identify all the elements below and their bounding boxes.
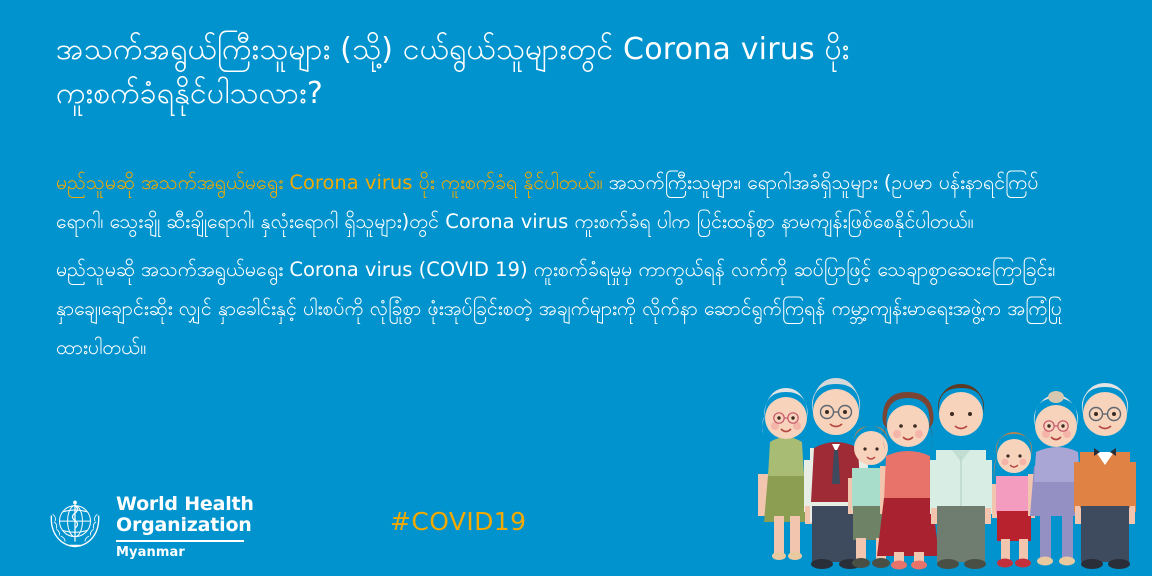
who-wordmark: World Health Organization Myanmar	[116, 492, 254, 560]
headline-line-1: အသက်အရွယ်ကြီးသူများ (သို့) ငယ်ရွယ်သူများ…	[56, 28, 1116, 72]
who-logo: World Health Organization Myanmar	[44, 492, 254, 560]
family-group-illustration	[752, 356, 1152, 576]
paragraph-1-lead: မည်သူမဆို အသက်အရွယ်မရွေး Corona virus ပိ…	[56, 171, 603, 194]
figure-elderly-man-2	[1074, 383, 1136, 569]
figure-adult-woman	[877, 392, 939, 570]
paragraph-1: မည်သူမဆို အသက်အရွယ်မရွေး Corona virus ပိ…	[56, 163, 1076, 241]
who-emblem-icon	[44, 492, 106, 554]
hashtag-label: #COVID19	[390, 507, 526, 536]
page-title: အသက်အရွယ်ကြီးသူများ (သို့) ငယ်ရွယ်သူများ…	[56, 28, 1116, 116]
headline-line-2: ကူးစက်ခံရနိုင်ပါသလား?	[56, 72, 1116, 116]
who-divider	[116, 540, 244, 542]
who-covid-poster: အသက်အရွယ်ကြီးသူများ (သို့) ငယ်ရွယ်သူများ…	[0, 0, 1152, 576]
who-name-line-2: Organization	[116, 515, 254, 536]
figure-adult-man	[930, 384, 992, 569]
body-copy: မည်သူမဆို အသက်အရွယ်မရွေး Corona virus ပိ…	[56, 163, 1076, 367]
paragraph-2: မည်သူမဆို အသက်အရွယ်မရွေး Corona virus (C…	[56, 250, 1076, 367]
who-country-label: Myanmar	[116, 545, 254, 560]
who-name-line-1: World Health	[116, 494, 254, 515]
